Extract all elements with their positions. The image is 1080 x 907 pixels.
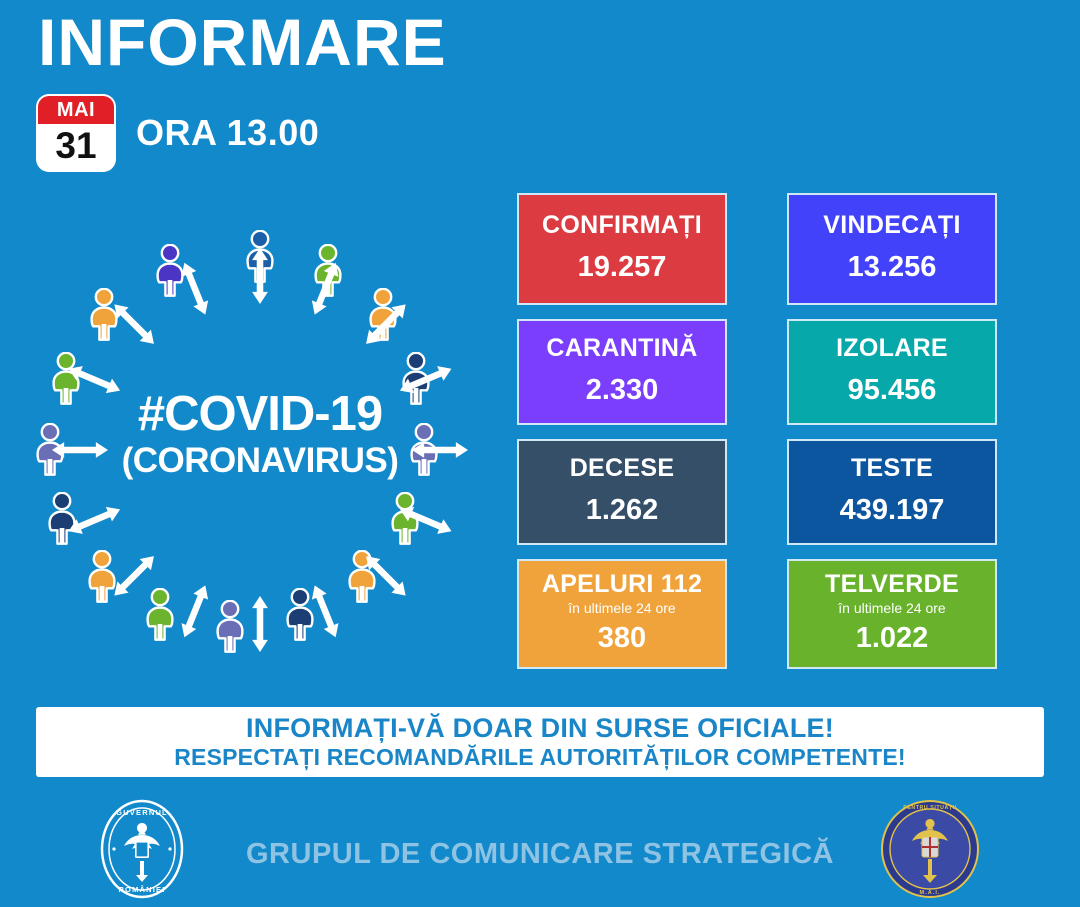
- ring-people-group: [38, 231, 437, 652]
- stat-value: 13.256: [848, 252, 937, 284]
- seal-right-upper-text: PENTRU SITUAȚII: [903, 805, 956, 811]
- stat-value: 19.257: [578, 252, 667, 284]
- hour-label: ORA 13.00: [136, 112, 319, 154]
- stat-label: APELURI 112: [542, 571, 702, 599]
- stat-label: DECESE: [570, 455, 675, 483]
- calendar-day-label: 31: [38, 124, 114, 170]
- seal-right-lower-text: M.A.I.: [920, 890, 941, 896]
- stat-card-decese: DECESE 1.262: [517, 439, 727, 545]
- stat-label: CARANTINĂ: [546, 335, 697, 363]
- stat-value: 439.197: [840, 495, 945, 527]
- stat-value: 1.022: [856, 623, 929, 655]
- seal-left-lower-text: ROMÂNIEI: [118, 885, 165, 894]
- stat-label: VINDECAȚI: [823, 212, 960, 240]
- stat-label: TESTE: [851, 455, 933, 483]
- stat-card-confirmati: CONFIRMAȚI 19.257: [517, 193, 727, 305]
- stat-sublabel: în ultimele 24 ore: [838, 600, 945, 617]
- stats-grid: CONFIRMAȚI 19.257 VINDECAȚI 13.256 CARAN…: [517, 193, 1007, 669]
- ring-arrows-group: [52, 248, 468, 652]
- date-row: MAI 31 ORA 13.00: [38, 96, 319, 170]
- seal-left-upper-text: GUVERNUL: [116, 808, 168, 817]
- stat-value: 380: [598, 623, 646, 655]
- stat-value: 95.456: [848, 375, 937, 407]
- footer: GUVERNUL ROMÂNIEI GRUPUL DE COMUNICARE S…: [0, 790, 1080, 907]
- stat-value: 1.262: [586, 495, 659, 527]
- covid-circle-graphic: #COVID-19 (CORONAVIRUS): [32, 222, 488, 678]
- page-title: INFORMARE: [38, 8, 447, 77]
- stat-card-vindecati: VINDECAȚI 13.256: [787, 193, 997, 305]
- stat-label: TELVERDE: [825, 571, 959, 599]
- stat-card-apeluri-112: APELURI 112 în ultimele 24 ore 380: [517, 559, 727, 669]
- header: INFORMARE MAI 31 ORA 13.00: [0, 0, 1080, 185]
- stat-card-telverde: TELVERDE în ultimele 24 ore 1.022: [787, 559, 997, 669]
- official-sources-banner: INFORMAȚI-VĂ DOAR DIN SURSE OFICIALE! RE…: [36, 707, 1044, 777]
- stat-label: CONFIRMAȚI: [542, 212, 702, 240]
- calendar-icon: MAI 31: [38, 96, 114, 170]
- departamentul-pentru-situatii-de-urgenta-seal-icon: PENTRU SITUAȚII M.A.I.: [880, 799, 980, 899]
- banner-line-secondary: RESPECTAȚI RECOMANDĂRILE AUTORITĂȚILOR C…: [174, 744, 906, 770]
- stat-value: 2.330: [586, 375, 659, 407]
- stat-label: IZOLARE: [836, 335, 948, 363]
- calendar-month-label: MAI: [38, 96, 114, 124]
- stat-card-izolare: IZOLARE 95.456: [787, 319, 997, 425]
- stat-card-teste: TESTE 439.197: [787, 439, 997, 545]
- stat-card-carantina: CARANTINĂ 2.330: [517, 319, 727, 425]
- stat-sublabel: în ultimele 24 ore: [568, 600, 675, 617]
- banner-line-primary: INFORMAȚI-VĂ DOAR DIN SURSE OFICIALE!: [246, 713, 834, 744]
